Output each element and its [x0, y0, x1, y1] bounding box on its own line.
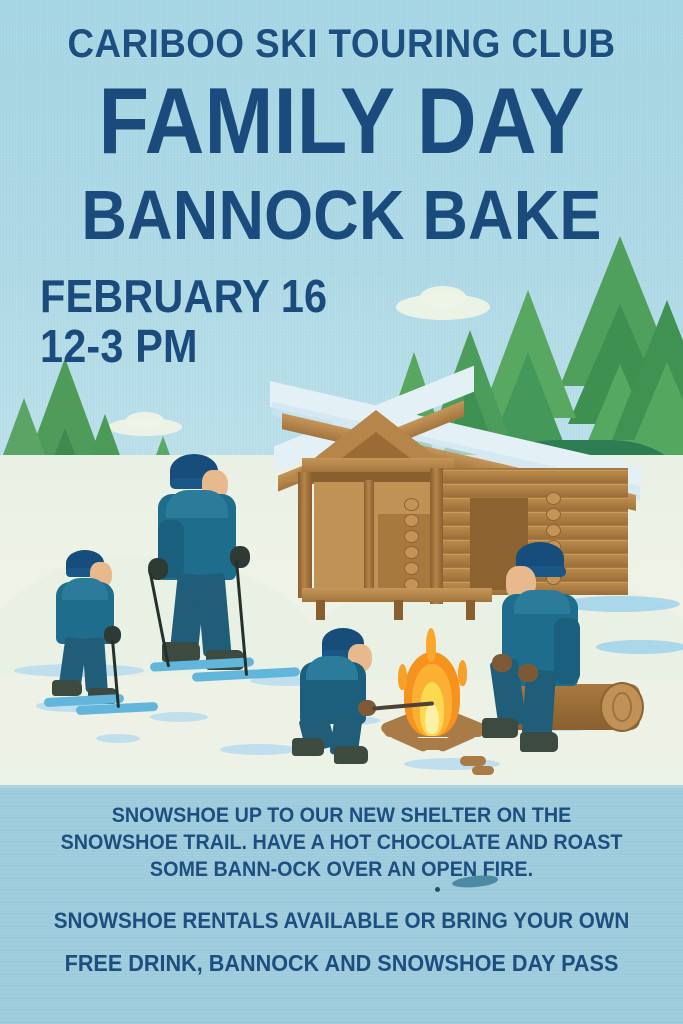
winter-boot	[520, 732, 558, 752]
flame-core	[425, 704, 439, 734]
mitten	[492, 654, 512, 672]
jacket-collar	[514, 590, 570, 614]
wall-log	[434, 526, 628, 539]
poster: CARIBOO SKI TOURING CLUB FAMILY DAY BANN…	[0, 0, 683, 1024]
wall-log	[434, 498, 628, 511]
event-time: 12-3 PM	[40, 322, 327, 372]
ski-pants	[82, 637, 108, 692]
bench-leg	[466, 600, 475, 620]
footer-includes-note: FREE DRINK, BANNOCK AND SNOWSHOE DAY PAS…	[52, 949, 630, 978]
headline-secondary: BANNOCK BAKE	[34, 182, 649, 249]
winter-boot	[292, 738, 324, 756]
shelter-post	[364, 480, 374, 598]
wall-log	[434, 470, 628, 483]
bench-leg	[394, 600, 403, 620]
jacket-hood	[166, 490, 228, 518]
log-end	[546, 508, 561, 521]
log-end	[404, 514, 419, 527]
log-end	[546, 492, 561, 505]
event-date-time: FEBRUARY 16 12-3 PM	[40, 272, 327, 371]
child-roasting-bannock	[292, 628, 402, 758]
skier-child	[44, 548, 144, 718]
wall-log	[434, 484, 628, 497]
ski-pole	[149, 573, 170, 668]
mitten	[518, 664, 538, 682]
ski-pants	[196, 573, 231, 657]
footer-panel: SNOWSHOE UP TO OUR NEW SHELTER ON THE SN…	[0, 785, 683, 1024]
skier-adult	[140, 450, 270, 700]
loose-log	[460, 756, 486, 766]
snow-shadow	[96, 734, 140, 743]
fire-log	[414, 738, 450, 750]
winter-boot	[482, 718, 518, 738]
log-end	[404, 546, 419, 559]
log-end	[404, 530, 419, 543]
loose-log	[472, 766, 494, 775]
jacket-hood	[306, 656, 358, 680]
ski-boot	[52, 680, 82, 696]
footer-description: SNOWSHOE UP TO OUR NEW SHELTER ON THE SN…	[52, 803, 630, 884]
log-end	[404, 562, 419, 575]
event-date: FEBRUARY 16	[40, 272, 327, 322]
flame-tongue	[458, 660, 467, 686]
bench-leg	[316, 600, 325, 620]
wall-log	[434, 512, 628, 525]
jacket-hood	[62, 578, 108, 600]
log-end	[546, 524, 561, 537]
snow-shadow	[150, 712, 208, 722]
adult-sitting-on-log	[480, 542, 610, 742]
flame-tongue	[426, 628, 436, 662]
snow-shadow	[220, 744, 298, 755]
footer-rentals-note: SNOWSHOE RENTALS AVAILABLE OR BRING YOUR…	[52, 907, 630, 935]
shelter-post	[430, 468, 443, 604]
cloud-icon	[420, 286, 466, 308]
log-end	[404, 498, 419, 511]
ink-dot-mark	[435, 887, 440, 892]
winter-boot	[334, 746, 368, 764]
club-name: CARIBOO SKI TOURING CLUB	[27, 24, 655, 64]
jacket-shade	[554, 618, 580, 684]
headline-primary: FAMILY DAY	[41, 78, 642, 164]
ski-glove	[230, 546, 250, 568]
shelter-post	[298, 472, 312, 598]
log-end-rings	[612, 692, 632, 722]
